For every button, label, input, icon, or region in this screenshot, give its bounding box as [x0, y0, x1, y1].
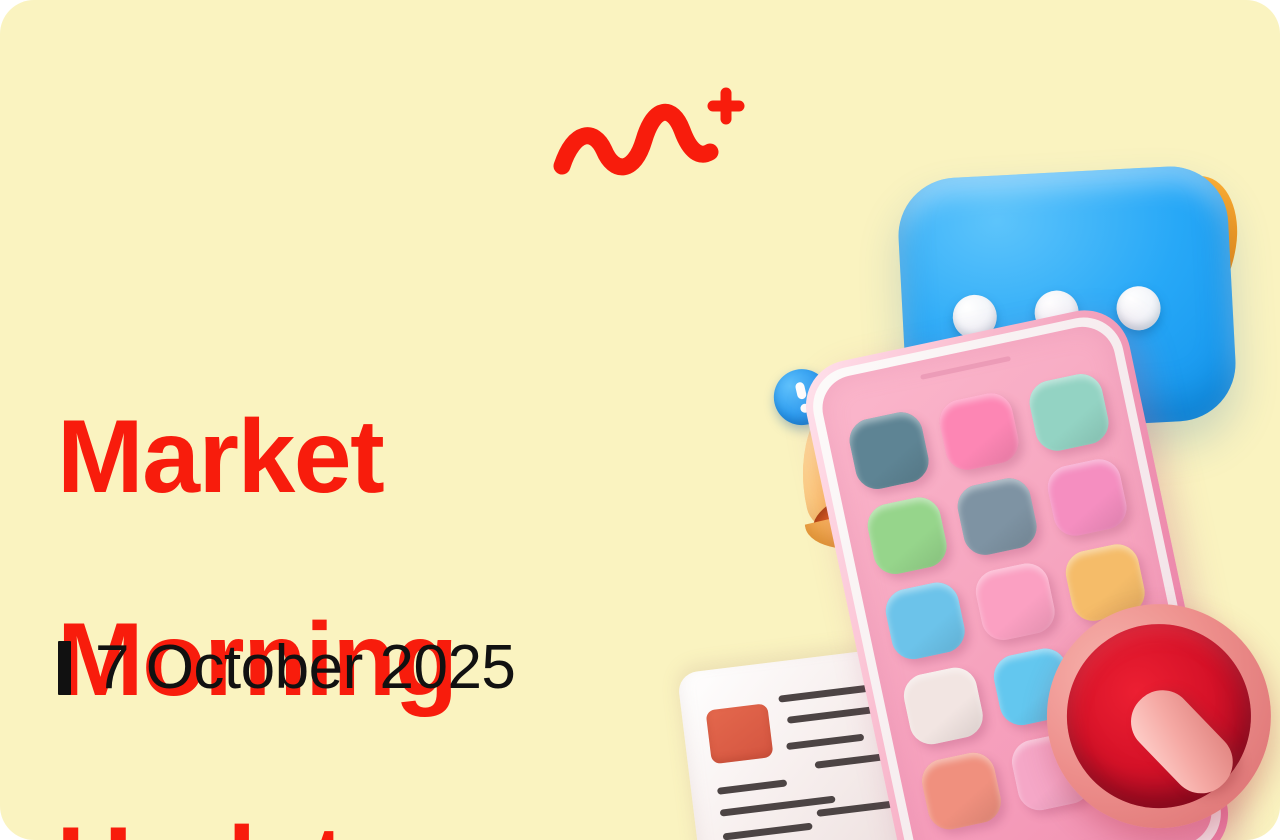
- chat-bubble-tail: [933, 370, 1060, 488]
- typing-dot: [952, 294, 998, 340]
- notification-bell-icon: [768, 333, 1001, 585]
- bell-body: [782, 363, 977, 548]
- phone-speaker-notch: [920, 356, 1011, 380]
- newspaper-text-line: [787, 706, 879, 724]
- headline-line-3: Updates: [57, 814, 697, 840]
- chat-bubble-icon: [896, 164, 1239, 436]
- bell-mouth: [807, 462, 979, 559]
- illustration-cluster: [680, 0, 1280, 840]
- app-tile: [864, 493, 951, 578]
- exclamation-glyph: [794, 381, 810, 412]
- newspaper-text-line: [778, 684, 878, 703]
- headline-line-1: Market: [57, 407, 697, 509]
- app-tile: [845, 408, 932, 493]
- app-tile: [1008, 730, 1095, 815]
- megaphone-rim: [1020, 578, 1280, 840]
- bell-top-nub: [886, 355, 931, 397]
- app-tile: [1025, 370, 1112, 455]
- app-grid: [845, 370, 1185, 834]
- app-tile: [1098, 710, 1185, 795]
- phone-rim: [806, 310, 1229, 840]
- app-tile: [882, 578, 969, 663]
- newspaper-text-line: [720, 796, 836, 817]
- newspaper-icon: [677, 648, 918, 840]
- date-accent-bar: [58, 641, 71, 695]
- app-tile: [990, 644, 1077, 729]
- newspaper-text-line: [786, 734, 864, 750]
- app-tile: [954, 474, 1041, 559]
- app-tile: [935, 389, 1022, 474]
- dateline: 7 October 2025: [58, 637, 515, 699]
- app-tile: [918, 749, 1005, 834]
- page-title: Market Morning Updates: [57, 305, 697, 840]
- app-tile: [972, 559, 1059, 644]
- bell-lip: [797, 451, 988, 565]
- orange-accent-shape: [1148, 171, 1246, 317]
- date-text: 7 October 2025: [95, 637, 515, 699]
- app-tile: [1080, 625, 1167, 710]
- newspaper-photo: [705, 703, 773, 764]
- newspaper-text-line: [815, 753, 887, 769]
- market-morning-updates-banner: Market Morning Updates 7 October 2025: [0, 0, 1280, 840]
- app-tile: [1044, 455, 1131, 540]
- megaphone-cone: [1045, 602, 1273, 830]
- typing-dots: [952, 285, 1162, 340]
- phone-screen: [816, 321, 1217, 840]
- megaphone-handle: [1119, 678, 1246, 806]
- newspaper-text-line: [723, 823, 813, 840]
- newspaper-text-line: [717, 779, 787, 794]
- bell-clapper: [873, 499, 923, 549]
- alert-badge-icon: [768, 364, 835, 431]
- phone-shell: [797, 302, 1236, 840]
- wave-plus-logo-icon: [548, 78, 748, 183]
- megaphone-icon: [1020, 570, 1280, 840]
- typing-dot: [1034, 289, 1080, 335]
- smartphone-icon: [797, 302, 1236, 840]
- typing-dot: [1115, 285, 1161, 331]
- app-tile: [900, 664, 987, 749]
- app-tile: [1062, 540, 1149, 625]
- newspaper-text-line: [816, 801, 892, 817]
